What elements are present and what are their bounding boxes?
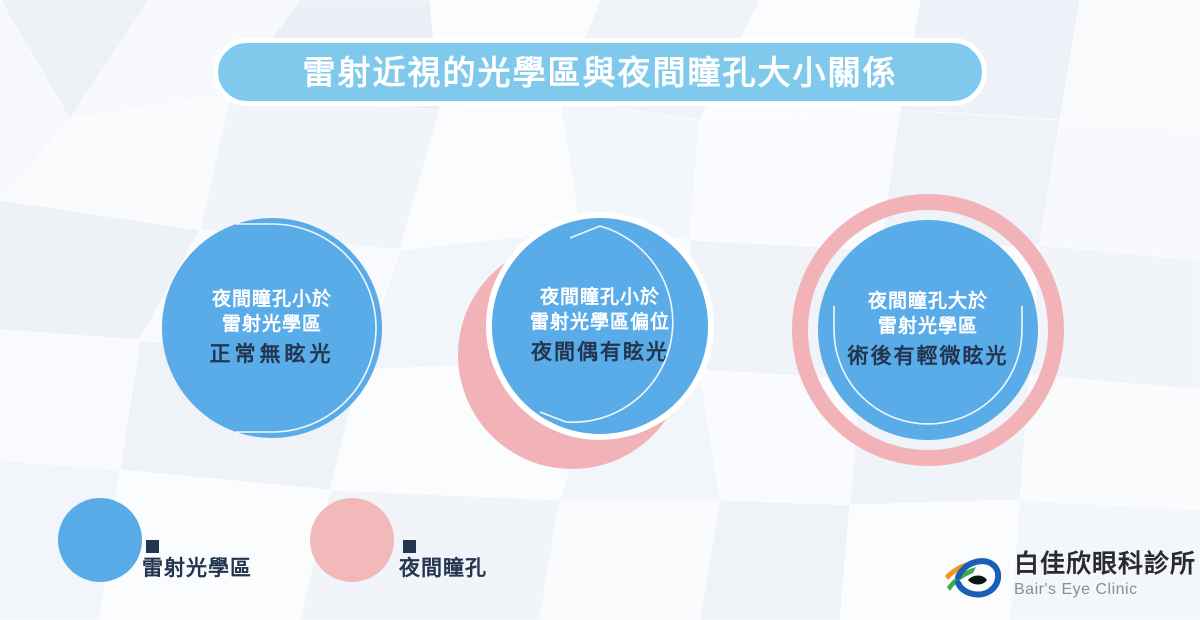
legend-laser-zone-label: 雷射光學區	[142, 558, 252, 579]
card-large-pupil: 夜間瞳孔大於 雷射光學區 術後有輕微眩光	[792, 194, 1064, 466]
card-normal-line2: 雷射光學區	[222, 312, 322, 337]
legend-night-pupil-swatch	[310, 498, 394, 582]
card-normal: 夜間瞳孔小於 雷射光學區 正常無眩光	[162, 218, 384, 440]
card-large-pupil-line1: 夜間瞳孔大於	[868, 289, 988, 314]
card-decentered-conclusion: 夜間偶有眩光	[531, 339, 669, 367]
clinic-logo: 白佳欣眼科診所 Bair's Eye Clinic	[942, 547, 1196, 603]
legend-night-pupil: 夜間瞳孔	[310, 498, 610, 598]
legend-night-pupil-bullet-icon	[403, 540, 416, 553]
card-decentered-line2: 雷射光學區偏位	[530, 310, 670, 335]
page-title-pill: 雷射近視的光學區與夜間瞳孔大小關係	[213, 38, 987, 106]
page-title: 雷射近視的光學區與夜間瞳孔大小關係	[303, 56, 898, 89]
laser-zone-circle-2: 夜間瞳孔小於 雷射光學區偏位 夜間偶有眩光	[492, 218, 708, 434]
infographic-canvas: 雷射近視的光學區與夜間瞳孔大小關係 夜間瞳孔小於 雷射光學區 正常無眩光 夜間瞳…	[0, 0, 1200, 620]
eye-logo-icon	[942, 547, 1006, 603]
legend-night-pupil-label: 夜間瞳孔	[399, 558, 487, 579]
legend-laser-zone-bullet-icon	[146, 540, 159, 553]
laser-zone-circle-3: 夜間瞳孔大於 雷射光學區 術後有輕微眩光	[818, 220, 1038, 440]
legend-laser-zone-swatch	[58, 498, 142, 582]
laser-zone-circle-1: 夜間瞳孔小於 雷射光學區 正常無眩光	[162, 218, 382, 438]
card-normal-conclusion: 正常無眩光	[210, 341, 335, 369]
clinic-name-en: Bair's Eye Clinic	[1014, 580, 1196, 599]
card-normal-line1: 夜間瞳孔小於	[212, 287, 332, 312]
card-large-pupil-line2: 雷射光學區	[878, 314, 978, 339]
card-decentered-line1: 夜間瞳孔小於	[540, 285, 660, 310]
card-decentered: 夜間瞳孔小於 雷射光學區偏位 夜間偶有眩光	[458, 216, 718, 471]
card-large-pupil-conclusion: 術後有輕微眩光	[848, 343, 1009, 371]
clinic-name-cn: 白佳欣眼科診所	[1014, 551, 1196, 577]
clinic-logo-text: 白佳欣眼科診所 Bair's Eye Clinic	[1014, 551, 1196, 598]
